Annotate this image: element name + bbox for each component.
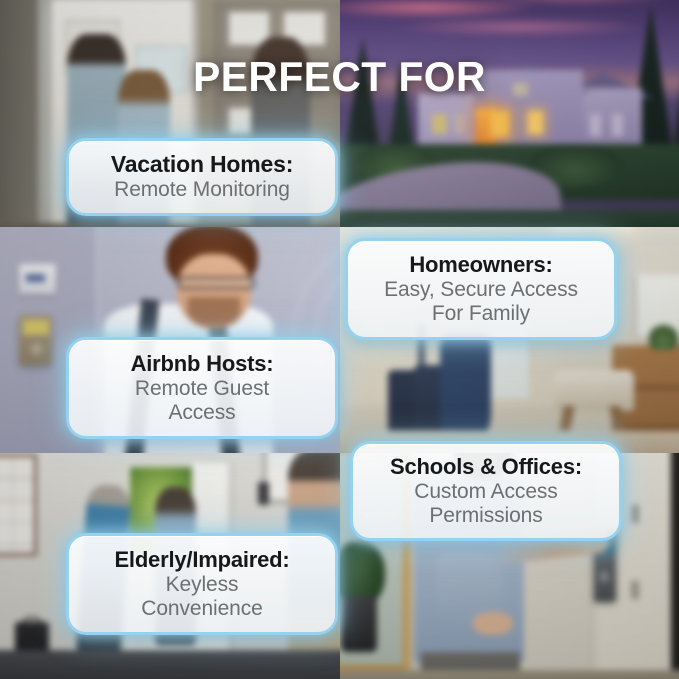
benefit-card-airbnb-hosts[interactable]: Airbnb Hosts: Remote GuestAccess	[66, 337, 338, 439]
benefit-card-subtitle: Remote GuestAccess	[135, 377, 269, 426]
benefit-card-elderly-impaired[interactable]: Elderly/Impaired: KeylessConvenience	[66, 533, 338, 635]
infographic-poster: PERFECT FOR Vacation Homes: Remote Monit…	[0, 0, 679, 679]
benefit-card-subtitle: KeylessConvenience	[141, 573, 263, 622]
benefit-card-vacation-homes[interactable]: Vacation Homes: Remote Monitoring	[66, 138, 338, 216]
benefit-card-title: Vacation Homes:	[111, 151, 293, 177]
benefit-card-subtitle: Remote Monitoring	[114, 178, 290, 202]
benefit-card-title: Homeowners:	[409, 252, 552, 277]
benefit-card-title: Elderly/Impaired:	[114, 547, 289, 572]
benefit-card-subtitle: Easy, Secure AccessFor Family	[384, 278, 578, 327]
benefit-card-title: Airbnb Hosts:	[131, 351, 274, 376]
benefit-card-title: Schools & Offices:	[390, 454, 582, 479]
signal-waves-icon	[340, 345, 399, 452]
page-title: PERFECT FOR	[10, 56, 669, 98]
benefit-card-subtitle: Custom AccessPermissions	[414, 480, 557, 529]
benefit-card-schools-offices[interactable]: Schools & Offices: Custom AccessPermissi…	[350, 441, 622, 541]
photo-panel-dusk-house	[340, 0, 679, 227]
benefit-card-homeowners[interactable]: Homeowners: Easy, Secure AccessFor Famil…	[345, 238, 617, 340]
